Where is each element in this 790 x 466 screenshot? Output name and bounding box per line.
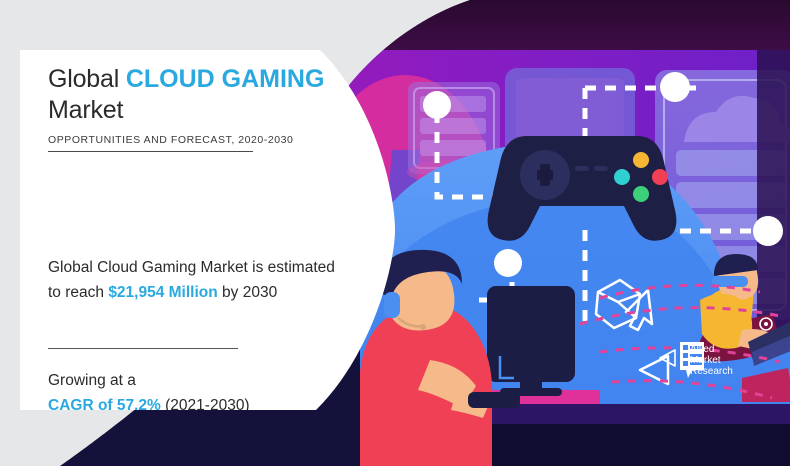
logo-play-triangle <box>660 350 675 366</box>
stat-2-lead: Growing at a <box>48 372 136 389</box>
market-value-statement: Global Cloud Gaming Market is estimated … <box>48 255 338 305</box>
title-accent: CLOUD GAMING <box>126 65 325 93</box>
subtitle-strong: OPPORTUNITIES AND FORECAST <box>48 134 231 146</box>
logo-line-2: Market <box>690 355 721 366</box>
logo-line-3: Research <box>690 366 733 377</box>
right-dark-column <box>757 50 790 340</box>
stat-1-tail: by 2030 <box>218 284 277 301</box>
page-title: Global CLOUD GAMING Market <box>48 64 348 126</box>
title-prefix: Global <box>48 65 126 93</box>
title-divider <box>48 151 253 152</box>
banner: Global CLOUD GAMING Market OPPORTUNITIES… <box>0 0 790 466</box>
stat-divider <box>48 348 238 349</box>
logo-line-1: Allied <box>690 344 714 355</box>
subtitle-range: , 2020-2030 <box>231 134 293 146</box>
stat-1-value: $21,954 Million <box>108 284 217 301</box>
monitor <box>487 286 575 396</box>
allied-market-research-logo: Allied Market Research <box>658 336 750 384</box>
title-suffix: Market <box>48 96 123 124</box>
subtitle: OPPORTUNITIES AND FORECAST, 2020-2030 <box>48 134 293 146</box>
